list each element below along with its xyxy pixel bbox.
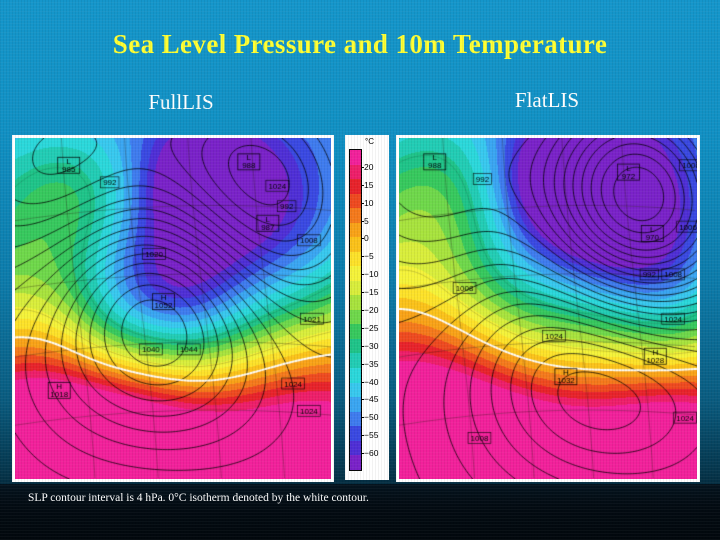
colorbar-tick: 20 — [364, 162, 373, 172]
colorbar-tick: 5 — [364, 216, 369, 226]
map-panel-flat-lis — [396, 135, 700, 482]
colorbar-segment — [350, 252, 361, 267]
colorbar-tick: 0 — [364, 233, 369, 243]
colorbar-tick: −30 — [364, 341, 378, 351]
colorbar-tick: −55 — [364, 430, 378, 440]
colorbar-segment — [350, 266, 361, 281]
map-canvas-flat-lis — [399, 138, 697, 479]
colorbar-segment — [350, 194, 361, 209]
colorbar-segment — [350, 295, 361, 310]
panel-label-full-lis: FullLIS — [66, 90, 296, 115]
colorbar-tick: −20 — [364, 305, 378, 315]
panel-label-flat-lis: FlatLIS — [432, 88, 662, 113]
colorbar-segment — [350, 179, 361, 194]
colorbar-segment — [350, 237, 361, 252]
colorbar-segment — [350, 208, 361, 223]
colorbar-segment — [350, 165, 361, 180]
colorbar-tick: −35 — [364, 359, 378, 369]
colorbar-tick: −40 — [364, 377, 378, 387]
colorbar-tick: −50 — [364, 412, 378, 422]
slide-caption: SLP contour interval is 4 hPa. 0°C isoth… — [28, 492, 369, 504]
colorbar-segment — [350, 353, 361, 368]
colorbar-segment — [350, 339, 361, 354]
colorbar-tick: −25 — [364, 323, 378, 333]
map-panel-full-lis — [12, 135, 334, 482]
colorbar-tick: 15 — [364, 180, 373, 190]
colorbar-segment — [350, 324, 361, 339]
colorbar-tick: −5 — [364, 251, 374, 261]
colorbar-segment — [350, 412, 361, 427]
colorbar-segment — [350, 397, 361, 412]
colorbar-tick-labels: 20151050−5−10−15−20−25−30−35−40−45−50−55… — [364, 149, 388, 471]
map-canvas-full-lis — [15, 138, 331, 479]
page-title: Sea Level Pressure and 10m Temperature — [0, 29, 720, 60]
colorbar-tick: 10 — [364, 198, 373, 208]
slide-root: Sea Level Pressure and 10m Temperature F… — [0, 0, 720, 540]
colorbar-segment — [350, 441, 361, 456]
colorbar-tick: −15 — [364, 287, 378, 297]
colorbar-segment — [350, 455, 361, 470]
colorbar-segment — [350, 426, 361, 441]
colorbar-tick: −10 — [364, 269, 378, 279]
temperature-colorbar: °C 20151050−5−10−15−20−25−30−35−40−45−50… — [345, 135, 389, 480]
colorbar-segment — [350, 281, 361, 296]
colorbar-segment — [350, 368, 361, 383]
colorbar-segment — [350, 310, 361, 325]
colorbar-units-label: °C — [365, 137, 374, 146]
colorbar-segment — [350, 223, 361, 238]
colorbar-tick: −45 — [364, 394, 378, 404]
colorbar-tick: −60 — [364, 448, 378, 458]
colorbar-segment — [350, 383, 361, 398]
colorbar-segment — [350, 150, 361, 165]
